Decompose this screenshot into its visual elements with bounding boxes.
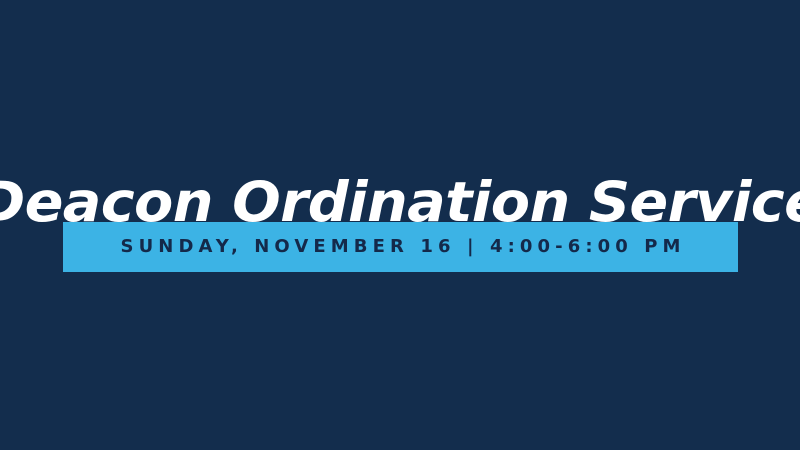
- title-container: Deacon Ordination Service: [0, 160, 800, 230]
- content-block: SUNDAY, NOVEMBER 16 | 4:00-6:00 PM Deaco…: [0, 0, 800, 450]
- event-slide: SUNDAY, NOVEMBER 16 | 4:00-6:00 PM Deaco…: [0, 0, 800, 450]
- event-details-text: SUNDAY, NOVEMBER 16 | 4:00-6:00 PM: [115, 238, 685, 256]
- subtitle-highlight-bar: SUNDAY, NOVEMBER 16 | 4:00-6:00 PM: [63, 222, 738, 272]
